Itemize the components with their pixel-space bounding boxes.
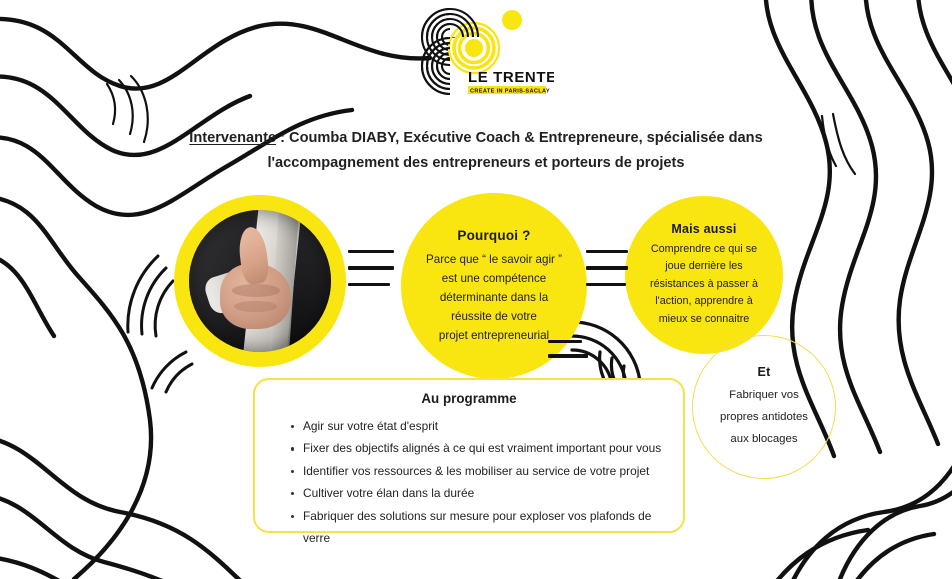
circle-mais-aussi: Mais aussi Comprendre ce qui se joue der… xyxy=(625,196,783,354)
speaker-photo-ring xyxy=(174,195,346,367)
circle-mais-aussi-title: Mais aussi xyxy=(671,222,736,236)
circle-mais-aussi-body: Comprendre ce qui se joue derrière les r… xyxy=(650,241,758,329)
thumbs-up-photo xyxy=(189,210,331,352)
programme-box: Au programme Agir sur votre état d'espri… xyxy=(253,378,685,533)
circle-pourquoi-line-4: réussite de votre xyxy=(426,307,562,326)
programme-list: Agir sur votre état d'esprit Fixer des o… xyxy=(273,415,665,549)
circle-et-title: Et xyxy=(758,365,771,379)
speaker-separator: : xyxy=(276,130,289,146)
programme-title: Au programme xyxy=(273,391,665,406)
poster-canvas: LE TRENTE CREATE IN PARIS-SACLAY Interve… xyxy=(0,0,952,579)
circle-et-line-1: Fabriquer vos xyxy=(720,384,808,406)
list-item: Agir sur votre état d'esprit xyxy=(291,415,665,437)
dash-connector-center-low xyxy=(548,340,588,358)
logo-tagline: CREATE IN PARIS-SACLAY xyxy=(470,89,550,95)
circle-pourquoi-title: Pourquoi ? xyxy=(457,228,530,243)
circle-mais-aussi-line-4: l'action, apprendre à xyxy=(650,293,758,311)
speaker-label: Intervenante xyxy=(189,130,276,146)
le-trente-logo: LE TRENTE CREATE IN PARIS-SACLAY xyxy=(404,4,554,100)
circle-pourquoi-line-5: projet entrepreneurial xyxy=(426,326,562,345)
circle-et-body: Fabriquer vos propres antidotes aux bloc… xyxy=(720,384,808,450)
circle-et: Et Fabriquer vos propres antidotes aux b… xyxy=(692,335,836,479)
logo-yellow-dot xyxy=(502,10,522,30)
circle-pourquoi-body: Parce que “ le savoir agir ” est une com… xyxy=(426,250,562,345)
circle-pourquoi-line-2: est une compétence xyxy=(426,269,562,288)
speaker-description-line2: l'accompagnement des entrepreneurs et po… xyxy=(267,155,684,171)
circle-mais-aussi-line-1: Comprendre ce qui se xyxy=(650,241,758,259)
circle-et-line-3: aux blocages xyxy=(720,428,808,450)
circle-pourquoi-line-1: Parce que “ le savoir agir ” xyxy=(426,250,562,269)
circle-mais-aussi-line-2: joue derrière les xyxy=(650,258,758,276)
circle-mais-aussi-line-5: mieux se connaitre xyxy=(650,311,758,329)
speaker-intro: Intervenante : Coumba DIABY, Exécutive C… xyxy=(176,126,776,176)
list-item: Cultiver votre élan dans la durée xyxy=(291,482,665,504)
list-item: Fixer des objectifs alignés à ce qui est… xyxy=(291,437,665,459)
list-item: Identifier vos ressources & les mobilise… xyxy=(291,460,665,482)
dash-connector-right xyxy=(586,250,628,286)
logo-wordmark: LE TRENTE xyxy=(468,69,554,86)
circle-mais-aussi-line-3: résistances à passer à xyxy=(650,276,758,294)
list-item: Fabriquer des solutions sur mesure pour … xyxy=(291,505,665,550)
circle-pourquoi-line-3: déterminante dans la xyxy=(426,288,562,307)
circle-et-line-2: propres antidotes xyxy=(720,406,808,428)
dash-connector-left xyxy=(348,250,394,286)
speaker-description-line1: Coumba DIABY, Exécutive Coach & Entrepre… xyxy=(289,130,763,146)
